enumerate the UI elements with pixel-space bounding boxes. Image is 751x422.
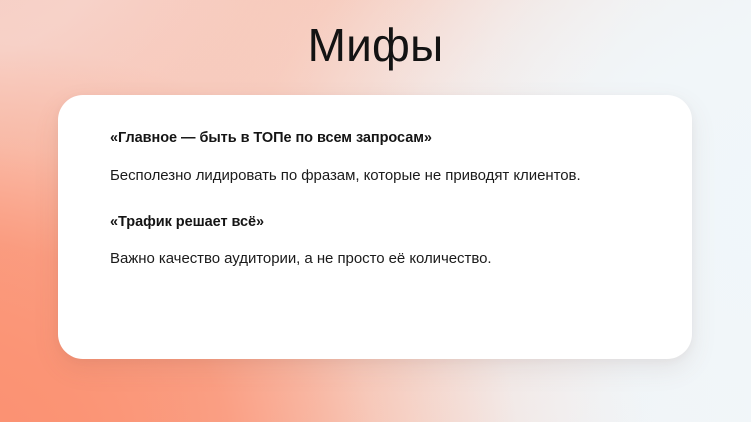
myth-body: Важно качество аудитории, а не просто её… [110,248,640,270]
myth-body: Бесполезно лидировать по фразам, которые… [110,165,640,187]
myth-heading: «Трафик решает всё» [110,213,640,233]
slide-root: Мифы «Главное — быть в ТОПе по всем запр… [0,0,751,422]
myth-block: «Трафик решает всё» Важно качество аудит… [110,213,640,271]
myth-block: «Главное — быть в ТОПе по всем запросам»… [110,129,640,187]
myths-card: «Главное — быть в ТОПе по всем запросам»… [58,95,692,359]
slide-title: Мифы [0,17,751,73]
myth-heading: «Главное — быть в ТОПе по всем запросам» [110,129,640,149]
